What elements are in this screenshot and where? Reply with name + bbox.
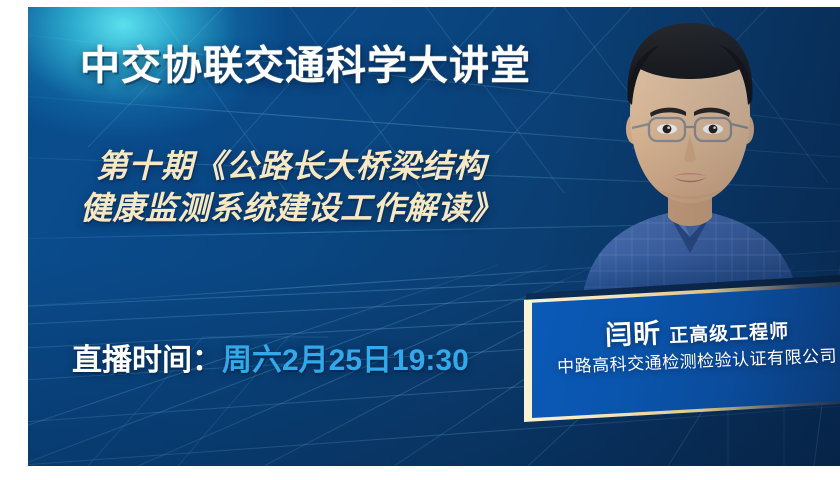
episode-subtitle: 第十期《公路长大桥梁结构 健康监测系统建设工作解读》	[80, 145, 590, 229]
page-title: 中交协联交通科学大讲堂	[80, 33, 531, 91]
live-time-value: 周六2月25日19:30	[222, 344, 469, 377]
speaker-portrait	[564, 7, 816, 301]
live-time-row: 直播时间：周六2月25日19:30	[72, 335, 469, 379]
poster-frame: 中交协联交通科学大讲堂 第十期《公路长大桥梁结构 健康监测系统建设工作解读》 直…	[0, 0, 840, 480]
speaker-card	[532, 284, 840, 418]
subtitle-line-1: 第十期《公路长大桥梁结构	[80, 145, 590, 187]
live-time-label: 直播时间：	[72, 344, 222, 377]
poster-banner: 中交协联交通科学大讲堂 第十期《公路长大桥梁结构 健康监测系统建设工作解读》 直…	[28, 7, 840, 466]
subtitle-line-2: 健康监测系统建设工作解读》	[80, 187, 590, 229]
